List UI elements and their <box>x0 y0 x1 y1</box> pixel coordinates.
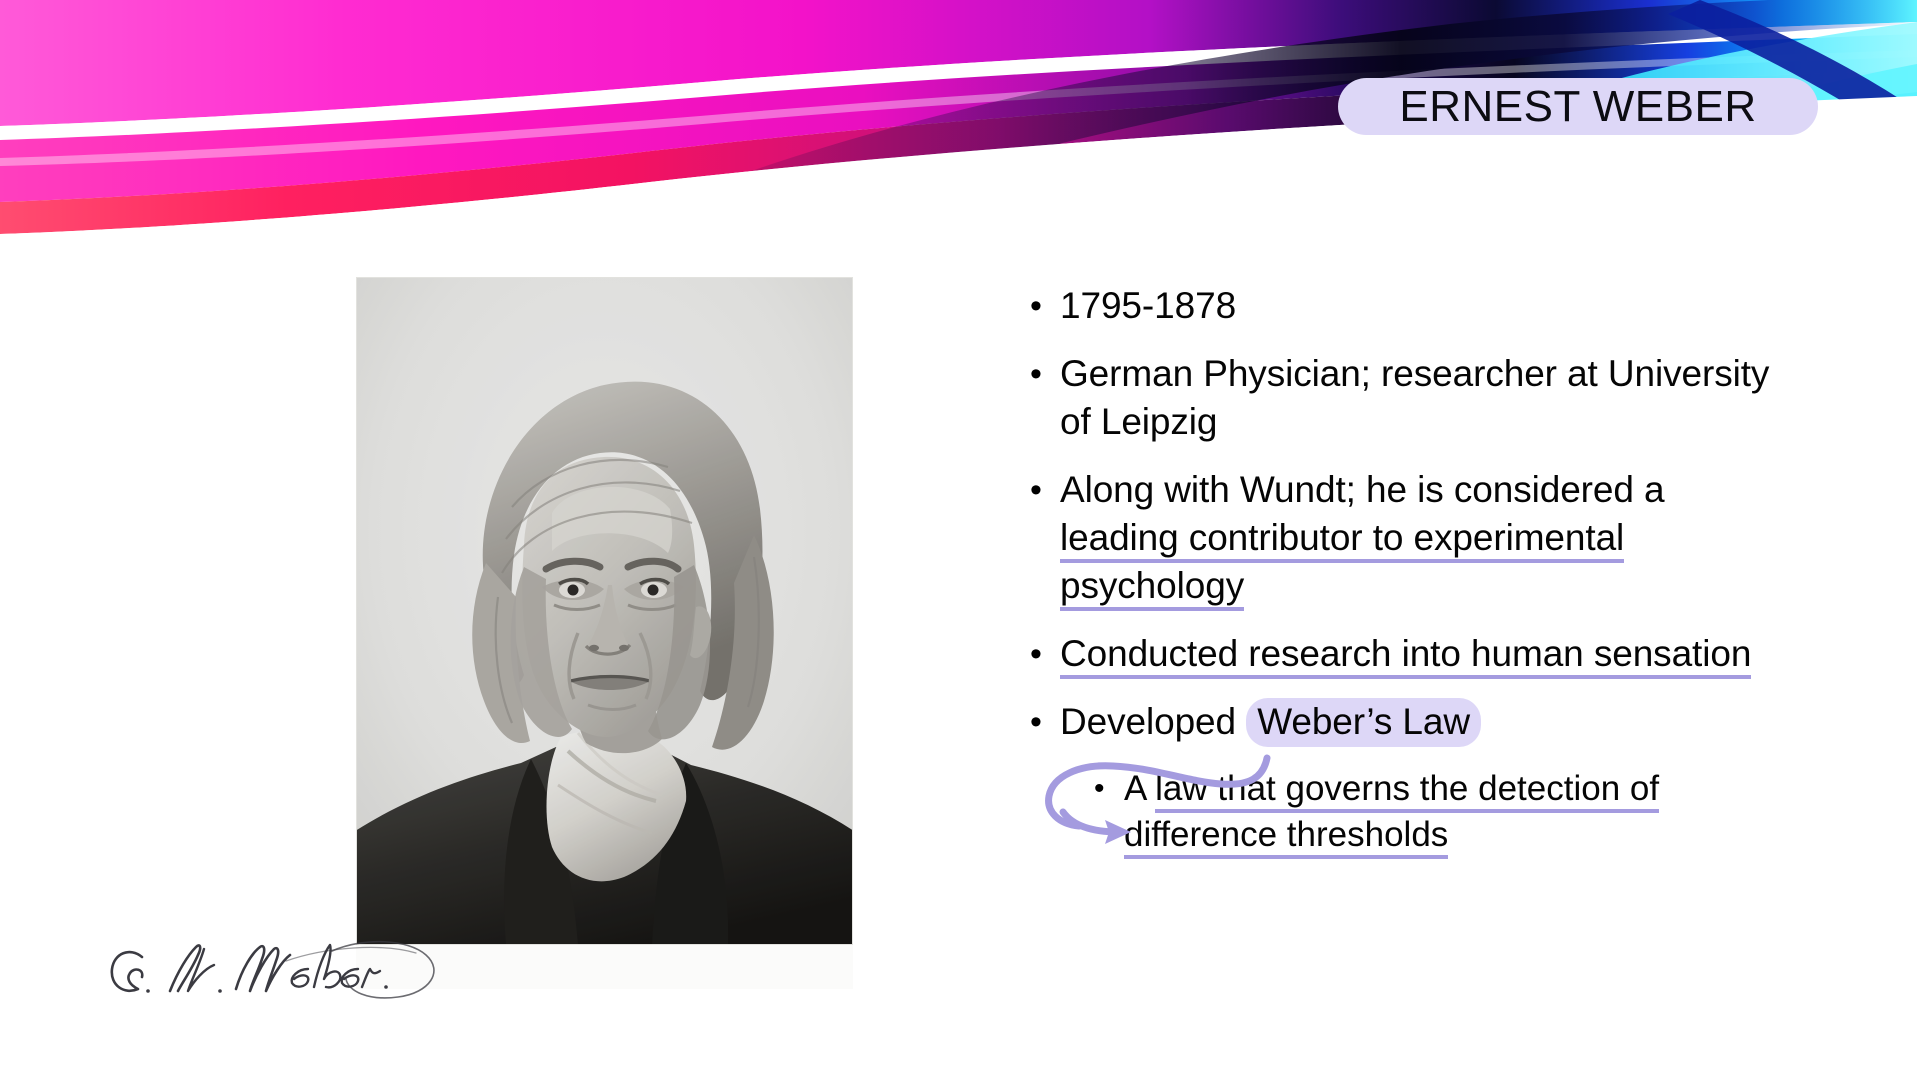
sub-bullet-marker: • <box>1094 766 1124 812</box>
bullet-text: Along with Wundt; he is considered a lea… <box>1060 466 1786 610</box>
sub-bullet-segment-plain: A <box>1124 769 1155 808</box>
bullet-item-webers-law: • Developed Weber’s Law <box>1026 698 1786 746</box>
sub-bullet-text: A law that governs the detection of diff… <box>1124 766 1786 858</box>
signature-strip <box>356 945 853 989</box>
bullet-text: Developed Weber’s Law <box>1060 698 1786 746</box>
bullet-segment-underlined: leading contributor to experimental psyc… <box>1060 517 1624 611</box>
bullet-marker: • <box>1026 698 1060 746</box>
slide-title-pill: ERNEST WEBER <box>1338 78 1818 135</box>
bullet-segment-underlined: Conducted research into human sensation <box>1060 633 1751 679</box>
bullet-segment-plain: 1795-1878 <box>1060 285 1236 326</box>
portrait-figure <box>356 277 853 989</box>
bullet-segment-plain: Developed <box>1060 701 1246 742</box>
bullet-marker: • <box>1026 466 1060 514</box>
bullet-item-research: • Conducted research into human sensatio… <box>1026 630 1786 678</box>
bullet-segment-plain: German Physician; researcher at Universi… <box>1060 353 1769 442</box>
bullet-text: Conducted research into human sensation <box>1060 630 1786 678</box>
bullet-item-dates: • 1795-1878 <box>1026 282 1786 330</box>
bullet-segment-plain: Along with Wundt; he is considered a <box>1060 469 1665 510</box>
sub-bullet-segment-underlined: law that governs the detection of differ… <box>1124 769 1659 859</box>
bullet-marker: • <box>1026 350 1060 398</box>
page-title: ERNEST WEBER <box>1399 82 1756 132</box>
bullet-marker: • <box>1026 282 1060 330</box>
bullet-text: German Physician; researcher at Universi… <box>1060 350 1786 446</box>
highlight-webers-law: Weber’s Law <box>1246 698 1481 747</box>
bullet-list: • 1795-1878 • German Physician; research… <box>1026 282 1786 858</box>
bullet-item-profession: • German Physician; researcher at Univer… <box>1026 350 1786 446</box>
bullet-marker: • <box>1026 630 1060 678</box>
bullet-item-contributor: • Along with Wundt; he is considered a l… <box>1026 466 1786 610</box>
sub-bullet-item-definition: • A law that governs the detection of di… <box>1094 766 1786 858</box>
bullet-text: 1795-1878 <box>1060 282 1786 330</box>
weber-portrait-image <box>356 277 853 945</box>
